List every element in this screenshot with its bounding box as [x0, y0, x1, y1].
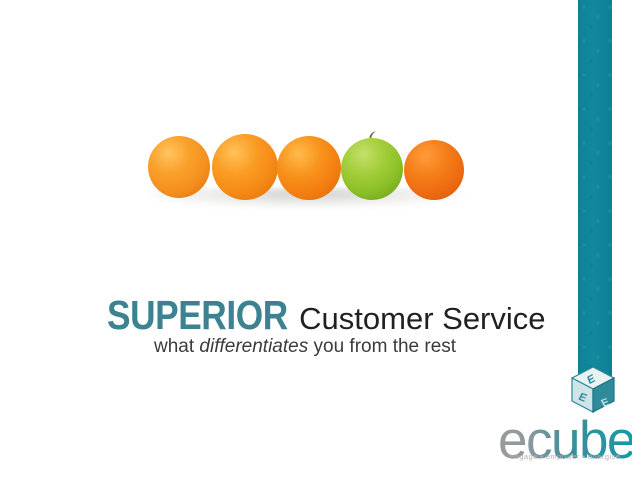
- slide-title: SUPERIORCustomer Service: [107, 292, 546, 339]
- title-emphasis-word: SUPERIOR: [107, 292, 288, 339]
- apple-stem-icon: [369, 130, 380, 140]
- presentation-slide: SUPERIORCustomer Service what differenti…: [0, 0, 640, 480]
- ecube-logo: E E E ecube engage • empower • energise: [498, 366, 632, 474]
- ecube-tagline: engage • empower • energise: [510, 452, 632, 461]
- subtitle-after: you from the rest: [308, 336, 456, 357]
- subtitle-before: what: [154, 336, 199, 357]
- cube-icon: E E E: [570, 366, 616, 414]
- fruit-row-image: [140, 126, 470, 222]
- fruit-orange-1: [148, 136, 210, 198]
- fruit-apple-green: [341, 138, 403, 200]
- subtitle-italic-word: differentiates: [199, 336, 308, 357]
- slide-subtitle: what differentiates you from the rest: [154, 336, 456, 358]
- teal-side-band: [578, 0, 612, 402]
- fruit-row: [140, 126, 470, 222]
- fruit-orange-4: [404, 140, 464, 200]
- title-rest: Customer Service: [299, 301, 545, 336]
- fruit-orange-2: [212, 134, 278, 200]
- fruit-orange-3: [277, 136, 341, 200]
